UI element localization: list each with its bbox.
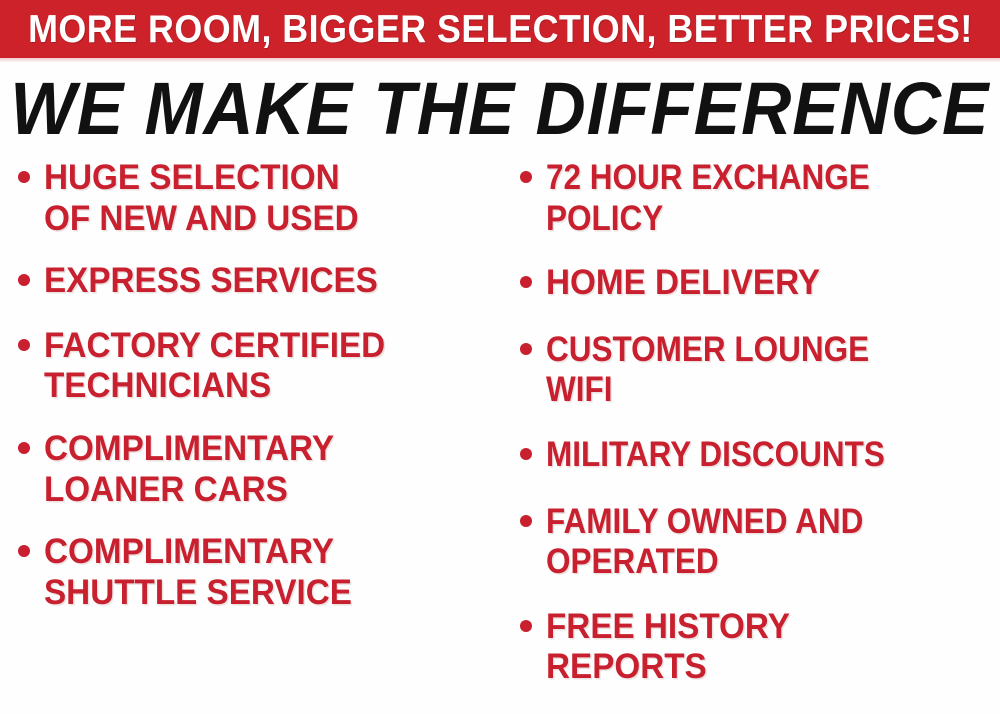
benefit-line-1: HUGE SELECTION [44,158,340,197]
benefit-line-2: REPORTS [546,647,790,688]
benefit-text: FAMILY OWNED AND OPERATED [546,502,863,583]
promo-banner: MORE ROOM, BIGGER SELECTION, BETTER PRIC… [0,0,1000,58]
list-item: COMPLIMENTARY SHUTTLE SERVICE [18,532,494,613]
benefit-line-1: COMPLIMENTARY [44,429,334,468]
benefit-line-1: HOME DELIVERY [546,263,820,302]
benefit-line-2: TECHNICIANS [44,366,385,407]
benefit-line-1: MILITARY DISCOUNTS [546,435,885,474]
benefit-line-1: FAMILY OWNED AND [546,502,863,541]
list-item: EXPRESS SERVICES [18,261,494,302]
benefits-columns: HUGE SELECTION OF NEW AND USED EXPRESS S… [0,158,1000,694]
promo-banner-text: MORE ROOM, BIGGER SELECTION, BETTER PRIC… [28,10,973,49]
benefit-line-2: POLICY [546,199,870,240]
bullet-dot-icon [520,515,532,527]
list-item: FAMILY OWNED AND OPERATED [520,502,998,583]
benefit-line-2: OPERATED [546,542,863,583]
list-item: 72 HOUR EXCHANGE POLICY [520,158,998,239]
benefit-line-2: OF NEW AND USED [44,199,359,240]
bullet-dot-icon [520,171,532,183]
bullet-dot-icon [520,343,532,355]
bullet-dot-icon [18,171,30,183]
benefit-line-1: 72 HOUR EXCHANGE [546,158,870,197]
benefit-text: CUSTOMER LOUNGE WIFI [546,330,869,411]
benefit-line-1: FREE HISTORY [546,607,790,646]
benefit-text: MILITARY DISCOUNTS [546,435,885,476]
benefit-text: HUGE SELECTION OF NEW AND USED [44,158,359,239]
bullet-dot-icon [18,274,30,286]
list-item: FREE HISTORY REPORTS [520,607,998,688]
page-title: WE MAKE THE DIFFERENCE [10,72,989,146]
list-item: FACTORY CERTIFIED TECHNICIANS [18,326,494,407]
banner-divider [0,58,1000,62]
benefits-column-left: HUGE SELECTION OF NEW AND USED EXPRESS S… [0,158,500,639]
benefit-text: 72 HOUR EXCHANGE POLICY [546,158,870,239]
benefit-text: EXPRESS SERVICES [44,261,378,302]
benefit-line-2: WIFI [546,370,869,411]
list-item: MILITARY DISCOUNTS [520,435,998,476]
benefit-line-1: EXPRESS SERVICES [44,261,378,300]
bullet-dot-icon [520,620,532,632]
benefit-text: COMPLIMENTARY SHUTTLE SERVICE [44,532,352,613]
list-item: HUGE SELECTION OF NEW AND USED [18,158,494,239]
benefits-column-right: 72 HOUR EXCHANGE POLICY HOME DELIVERY CU… [500,158,1000,714]
bullet-dot-icon [520,276,532,288]
list-item: HOME DELIVERY [520,263,998,304]
headline-container: WE MAKE THE DIFFERENCE [0,68,1000,150]
list-item: CUSTOMER LOUNGE WIFI [520,330,998,411]
bullet-dot-icon [520,448,532,460]
benefit-line-2: SHUTTLE SERVICE [44,573,352,614]
list-item: COMPLIMENTARY LOANER CARS [18,429,494,510]
benefit-text: FACTORY CERTIFIED TECHNICIANS [44,326,385,407]
bullet-dot-icon [18,339,30,351]
benefit-line-1: CUSTOMER LOUNGE [546,330,869,369]
benefit-text: HOME DELIVERY [546,263,820,304]
benefit-line-1: COMPLIMENTARY [44,532,334,571]
benefit-text: FREE HISTORY REPORTS [546,607,790,688]
benefit-text: COMPLIMENTARY LOANER CARS [44,429,334,510]
benefit-line-2: LOANER CARS [44,470,334,511]
bullet-dot-icon [18,442,30,454]
benefit-line-1: FACTORY CERTIFIED [44,326,385,365]
bullet-dot-icon [18,545,30,557]
